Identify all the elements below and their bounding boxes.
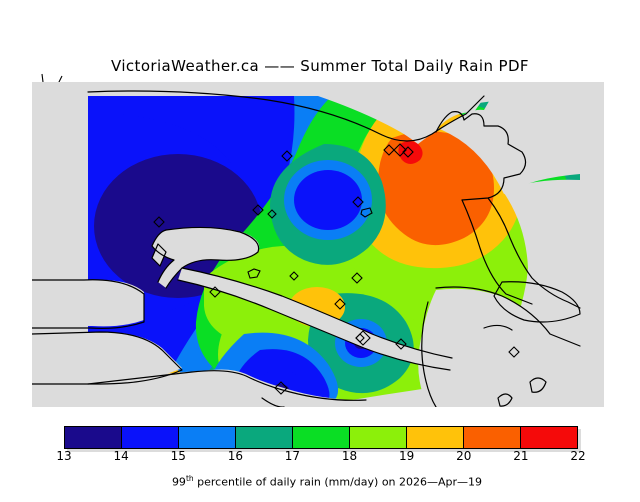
colorbar[interactable] [64, 426, 578, 449]
colorbar-band-16-17[interactable] [236, 427, 293, 448]
colorbar-band-14-15[interactable] [122, 427, 179, 448]
colorbar-band-19-20[interactable] [407, 427, 464, 448]
colorbar-bands[interactable] [64, 426, 578, 449]
colorbar-band-18-19[interactable] [350, 427, 407, 448]
colorbar-band-21-22[interactable] [521, 427, 577, 448]
page-title: VictoriaWeather.ca —— Summer Total Daily… [0, 57, 640, 75]
caption-prefix: 99 [172, 476, 186, 489]
screenshot-root: VictoriaWeather.ca —— Summer Total Daily… [0, 0, 640, 480]
caption-superscript: th [186, 474, 194, 483]
colorbar-band-17-18[interactable] [293, 427, 350, 448]
colorbar-caption: 99th percentile of daily rain (mm/day) o… [0, 461, 640, 502]
colorbar-band-20-21[interactable] [464, 427, 521, 448]
map-panel[interactable] [32, 82, 604, 407]
caption-rest: percentile of daily rain (mm/day) on 202… [194, 476, 482, 489]
rain-contour-map [32, 82, 604, 407]
colorbar-band-15-16[interactable] [179, 427, 236, 448]
colorbar-band-13-14[interactable] [65, 427, 122, 448]
